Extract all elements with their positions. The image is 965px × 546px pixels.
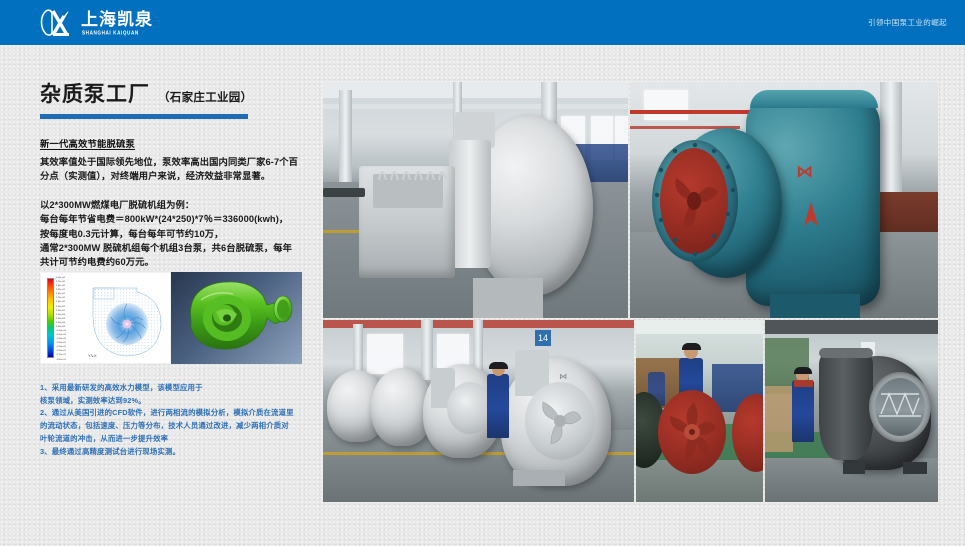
- kaiquan-logo-on-casing-icon: ⋈: [559, 372, 565, 381]
- ceiling-truss: [765, 320, 938, 334]
- pump-suction-cover: [449, 140, 491, 268]
- volute-3d-geometry: [171, 272, 302, 364]
- cfd-tick: -1.25e+01: [56, 346, 82, 348]
- brand-name-en: SHANGHAI KAIQUAN: [82, 30, 153, 36]
- header-tagline: 引领中国泵工业的崛起: [868, 0, 947, 45]
- ceiling-beam: [323, 82, 628, 98]
- top-header-bar: 上海凯泉 SHANGHAI KAIQUAN 引领中国泵工业的崛起: [0, 0, 965, 45]
- cfd-tick: -7.50e+00: [56, 338, 82, 340]
- pump-shaft: [323, 188, 365, 197]
- casing-vanes: [529, 386, 591, 456]
- intro-heading: 新一代高效节能脱硫泵: [40, 136, 320, 150]
- casing-top-flange: [750, 90, 878, 108]
- cfd-tick: 1.00e+01: [56, 310, 82, 312]
- worker-collar: [794, 380, 813, 387]
- cfd-image-row: 3.00e+01 2.75e+01 2.50e+01 2.25e+01 2.00…: [40, 272, 302, 364]
- casing-foot: [903, 462, 927, 474]
- red-overhead-pipe: [630, 110, 760, 114]
- note-line-4: 的流动状态，包括速度、压力等分布，技术人员通过改进，减少两相介质对: [40, 420, 322, 433]
- left-content-column: 杂质泵工厂 （石家庄工业园） 新一代高效节能脱硫泵 其效率值处于国际领先地位，泵…: [40, 78, 320, 270]
- flange-bolt-circle: [652, 140, 738, 262]
- photo-pump-assembly-grey: [323, 82, 628, 318]
- intro-paragraph: 其效率值处于国际领先地位，泵效率高出国内同类厂家6-7个百 分点（实测值），对终…: [40, 155, 320, 184]
- example-line-5: 共计可节约电费约60万元。: [40, 255, 320, 269]
- cfd-tick: 0.00e+00: [56, 326, 82, 328]
- example-line-1: 以2*300MW燃煤电厂脱硫机组为例：: [40, 198, 320, 212]
- bay-number-placard: 14: [535, 330, 551, 346]
- cfd-contour-plot-image: 3.00e+01 2.75e+01 2.50e+01 2.25e+01 2.00…: [40, 272, 171, 364]
- cfd-tick: 2.25e+01: [56, 289, 82, 291]
- title-underline-rule: [40, 114, 248, 119]
- cfd-tick: -5.00e+00: [56, 334, 82, 336]
- casing-foot: [843, 462, 865, 474]
- cfd-mesh-geometry: [85, 276, 169, 362]
- worker-hair: [794, 367, 812, 374]
- background-truss-through-bore: [877, 386, 923, 426]
- wooden-crate: [765, 386, 793, 452]
- red-flow-arrow-icon: [800, 202, 822, 232]
- cfd-colorbar-ticks: 3.00e+01 2.75e+01 2.50e+01 2.25e+01 2.00…: [56, 277, 82, 361]
- cfd-tick: -1.00e+01: [56, 342, 82, 344]
- cfd-tick: -2.50e+00: [56, 330, 82, 332]
- example-paragraph: 以2*300MW燃煤电厂脱硫机组为例： 每台每年节省电费＝800kW*(24*2…: [40, 198, 320, 270]
- worker-figure: [487, 374, 509, 438]
- page-title: 杂质泵工厂: [40, 78, 150, 108]
- intro-line-1: 其效率值处于国际领先地位，泵效率高出国内同类厂家6-7个百: [40, 155, 320, 169]
- casing-top-rim: [819, 348, 873, 358]
- spring-row: [375, 160, 455, 182]
- volute-3d-model-image: [171, 272, 302, 364]
- photo-pump-casing-row-grey: 14 ⋈: [323, 320, 634, 502]
- cfd-colorbar: [47, 278, 54, 358]
- photo-impellers-red: [636, 320, 763, 502]
- kaiquan-logo-on-casing-icon: ⋈: [796, 162, 810, 182]
- ceiling-beam: [636, 320, 763, 334]
- note-line-5: 叶轮流道的冲击，从而进一步提升效率: [40, 433, 322, 446]
- cfd-tick: 2.75e+01: [56, 281, 82, 283]
- cfd-tick: 3.00e+01: [56, 277, 82, 279]
- cfd-tick: 5.00e+00: [56, 318, 82, 320]
- cfd-tick: 1.50e+01: [56, 301, 82, 303]
- window: [644, 90, 688, 120]
- photo-large-casing-dark: [765, 320, 938, 502]
- pump-pedestal: [473, 278, 543, 318]
- page-title-row: 杂质泵工厂 （石家庄工业园）: [40, 78, 320, 108]
- page-title-subtitle: （石家庄工业园）: [158, 89, 252, 105]
- note-line-6: 3、最终通过高精度测试台进行现场实测。: [40, 446, 322, 459]
- brand-name-cn: 上海凯泉: [81, 11, 153, 28]
- cfd-tick: -1.50e+01: [56, 350, 82, 352]
- example-line-2: 每台每年节省电费＝800kW*(24*250)*7％＝336000(kwh)，: [40, 212, 320, 226]
- note-line-3: 2、通过从美国引进的CFD软件，进行两相流的模拟分析，模拟介质在流道里: [40, 407, 322, 420]
- cfd-tick: -2.00e+01: [56, 359, 82, 361]
- note-line-2: 核泵领域，实测效率达到92%。: [40, 395, 322, 408]
- cfd-tick: 2.00e+01: [56, 293, 82, 295]
- casing-foot: [513, 470, 565, 486]
- brand-logo: 上海凯泉 SHANGHAI KAIQUAN: [40, 7, 153, 39]
- cfd-tick: 1.75e+01: [56, 297, 82, 299]
- casing-base: [770, 294, 860, 318]
- example-line-4: 通常2*300MW 脱硫机组每个机组3台泵，共6台脱硫泵，每年: [40, 241, 320, 255]
- pillar: [339, 90, 352, 192]
- note-line-1: 1、采用最新研发的高效水力模型，该模型应用于: [40, 382, 322, 395]
- cfd-tick: 2.50e+01: [56, 285, 82, 287]
- photo-pump-casing-teal: ⋈: [630, 82, 938, 318]
- cfd-tick: 7.50e+00: [56, 314, 82, 316]
- ceiling-beam: [323, 104, 628, 109]
- factory-photo-grid: ⋈ 14 ⋈: [323, 82, 938, 502]
- casing-inlet-neck: [819, 350, 873, 460]
- worker-figure: [792, 380, 814, 442]
- worker-hair: [489, 362, 508, 369]
- cfd-tick: -1.75e+01: [56, 354, 82, 356]
- intro-line-2: 分点（实测值），对终端用户来说，经济效益非常显著。: [40, 169, 320, 183]
- technical-notes-list: 1、采用最新研发的高效水力模型，该模型应用于 核泵领域，实测效率达到92%。 2…: [40, 382, 322, 458]
- kaiquan-ix-mark-icon: [40, 8, 76, 39]
- cfd-tick: 1.25e+01: [56, 306, 82, 308]
- worker-hair: [682, 343, 701, 350]
- example-line-3: 按每度电0.3元计算，每台每年可节约10万，: [40, 227, 320, 241]
- cfd-tick: 2.50e+00: [56, 322, 82, 324]
- impeller-vanes: [658, 390, 726, 474]
- cfd-axis-indicator: Y↳X: [88, 353, 97, 358]
